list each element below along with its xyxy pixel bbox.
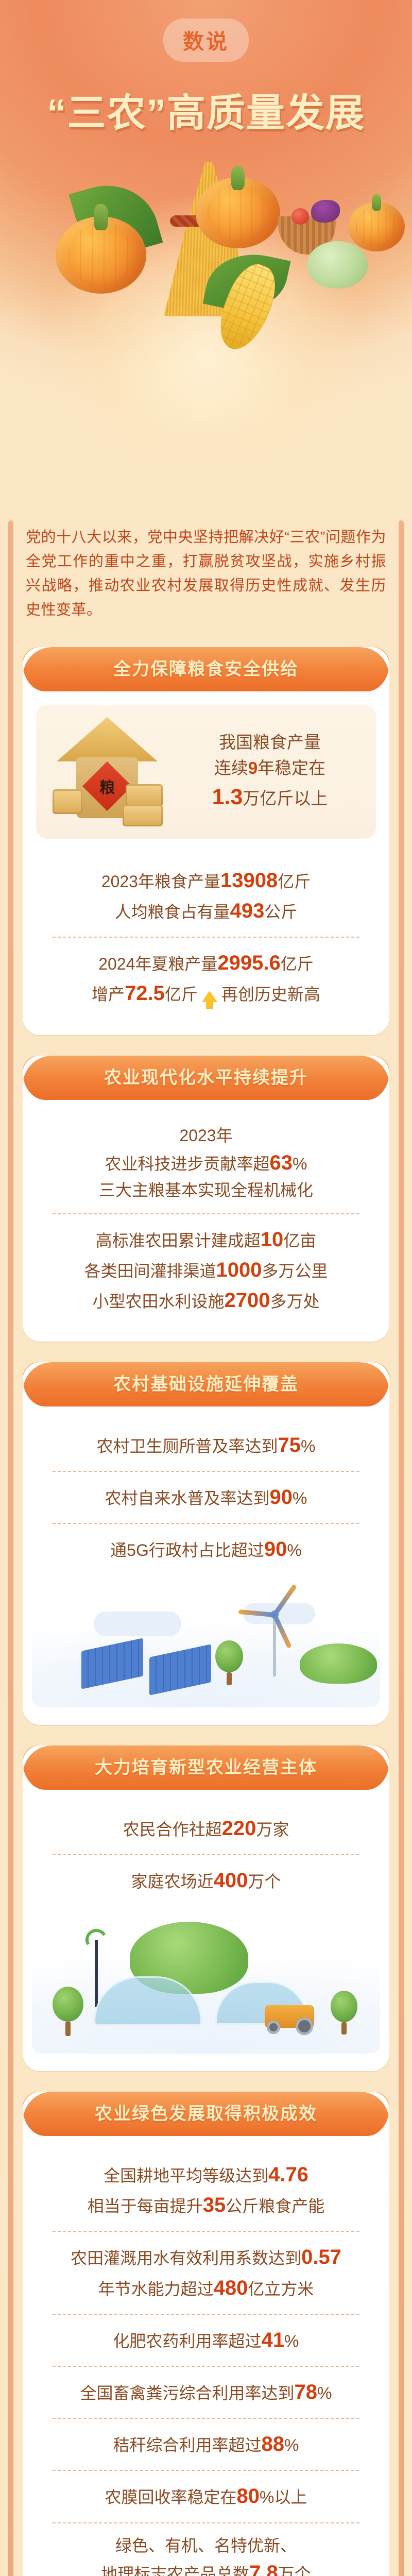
stat-label: 多万处 — [270, 1292, 319, 1311]
feature-line-2-post: 年稳定在 — [257, 758, 325, 777]
stat-label: 绿色、有机、名特优新、 — [115, 2536, 297, 2555]
stat-label: 化肥农药利用率超过 — [113, 2332, 262, 2350]
section-heading: 农业绿色发展取得积极成效 — [23, 2092, 389, 2136]
stat-item: 2024年夏粮产量2995.6亿斤增产72.5亿斤再创历史新高 — [41, 940, 371, 1017]
stat-label: 家庭农场近 — [131, 1872, 214, 1891]
stat-item: 高标准农田累计建成超10亿亩各类田间灌排渠道1000多万公里小型农田水利设施27… — [41, 1216, 371, 1325]
stat-label: % — [293, 1489, 307, 1507]
feature-output-value: 1.3 — [212, 785, 243, 809]
stat-label: 通5G行政村占比超过 — [110, 1541, 264, 1560]
stat-label: 全国畜禽粪污综合利用率达到 — [80, 2384, 295, 2402]
stat-divider — [53, 2522, 359, 2523]
section-heading: 全力保障粮食安全供给 — [23, 647, 389, 691]
section-business-entities: 大力培育新型农业经营主体 农民合作社超220万家家庭农场近400万个 — [23, 1745, 389, 2071]
hay-bale-icon — [126, 784, 163, 807]
stat-label: 秸秆综合利用率超过 — [113, 2436, 262, 2454]
winter-melon-icon — [307, 241, 368, 289]
section-infrastructure: 农村基础设施延伸覆盖 农村卫生厕所普及率达到75%农村自来水普及率达到90%通5… — [23, 1362, 389, 1725]
stat-label: % — [287, 1541, 301, 1560]
stat-label: 全国耕地平均等级达到 — [104, 2166, 268, 2185]
signal-tower-pole-icon — [95, 1940, 98, 2007]
granary-roof-icon — [57, 717, 158, 761]
feature-line-2-pre: 连续 — [214, 758, 248, 777]
stat-label: 亿斤 — [278, 872, 311, 891]
section-modernization: 农业现代化水平持续提升 2023年农业科技进步贡献率超63%三大主粮基本实现全程… — [23, 1056, 389, 1342]
stat-value: 13908 — [220, 869, 278, 892]
stat-value: 2995.6 — [217, 952, 280, 974]
stat-label: 2024年夏粮产量 — [98, 955, 217, 973]
stat-list: 全国耕地平均等级达到4.76相当于每亩提升35公斤粮食产能农田灌溉用水有效利用系… — [23, 2136, 389, 2576]
stat-label: 人均粮食占有量 — [115, 903, 230, 921]
tree-crown — [215, 1640, 243, 1672]
stat-item: 农村自来水普及率达到90% — [41, 1474, 371, 1521]
stat-divider — [53, 2314, 359, 2315]
tree-icon — [331, 1991, 357, 2033]
stat-item: 绿色、有机、名特优新、地理标志农产品总数7.8万个 — [41, 2526, 371, 2576]
feature-line-1: 我国粮食产量 — [173, 730, 367, 755]
section-heading: 农业现代化水平持续提升 — [23, 1056, 389, 1100]
stat-value: 2700 — [225, 1289, 270, 1312]
stat-label: % — [284, 2332, 299, 2350]
stat-label: 农村自来水普及率达到 — [105, 1489, 270, 1507]
hero-fade-decoration — [0, 407, 412, 520]
stat-label: 再创历史新高 — [221, 985, 320, 1004]
stat-value: 493 — [230, 900, 265, 922]
tractor-wheel-icon — [267, 2021, 280, 2034]
stat-divider — [53, 937, 359, 938]
section-food-security: 全力保障粮食安全供给 粮 我国粮食产量 — [23, 647, 389, 1035]
stat-value: 220 — [222, 1817, 256, 1840]
stat-label: 农膜回收率稳定在 — [105, 2488, 237, 2506]
tree-trunk — [341, 2022, 347, 2035]
page-badge: 数说 — [163, 19, 249, 62]
hero-banner: 数说 “三农”高质量发展 — [0, 0, 412, 520]
stat-value: 90 — [264, 1538, 287, 1561]
stat-value: 7.8 — [249, 2562, 278, 2576]
pumpkin-icon — [196, 177, 280, 248]
stat-label: % — [284, 2436, 299, 2454]
stat-label: 农田灌溉用水有效利用系数达到 — [71, 2249, 301, 2267]
feature-line-3: 1.3万亿斤以上 — [173, 781, 367, 814]
stat-value: 88 — [262, 2433, 285, 2455]
section-card: 农村基础设施延伸覆盖 农村卫生厕所普及率达到75%农村自来水普及率达到90%通5… — [23, 1362, 389, 1725]
granary-feature-panel: 粮 我国粮食产量 连续9年稳定在 1.3万亿斤以上 — [36, 705, 376, 839]
stat-list: 2023年粮食产量13908亿斤人均粮食占有量493公斤2024年夏粮产量299… — [23, 842, 389, 1018]
section-card: 农业现代化水平持续提升 2023年农业科技进步贡献率超63%三大主粮基本实现全程… — [23, 1056, 389, 1342]
stat-item: 农民合作社超220万家 — [41, 1805, 371, 1852]
feature-line-3-post: 万亿斤以上 — [243, 789, 328, 808]
stat-label: 万个 — [248, 1872, 281, 1891]
section-card: 农业绿色发展取得积极成效 全国耕地平均等级达到4.76相当于每亩提升35公斤粮食… — [23, 2092, 389, 2576]
stat-list: 2023年农业科技进步贡献率超63%三大主粮基本实现全程机械化高标准农田累计建成… — [23, 1100, 389, 1324]
hay-bale-icon — [123, 805, 163, 826]
stat-label: 亿斤 — [281, 955, 314, 973]
stat-divider — [53, 2418, 359, 2419]
stat-divider — [53, 2366, 359, 2367]
pumpkin-icon — [56, 216, 146, 294]
stat-label: 公斤粮食产能 — [226, 2197, 324, 2215]
stat-label: 2023年粮食产量 — [101, 872, 220, 891]
stat-label: 万个 — [278, 2565, 311, 2576]
stat-divider — [53, 2470, 359, 2471]
hay-bale-icon — [53, 789, 82, 814]
stat-value: 0.57 — [301, 2246, 341, 2268]
infographic-poster: 数说 “三农”高质量发展 党的十八大以来，党中央坚持把解决好“三农”问题作为全党… — [0, 0, 412, 2576]
tree-trunk — [65, 2022, 71, 2036]
stat-label: % — [293, 1155, 307, 1173]
stat-label: % — [317, 2384, 332, 2402]
tree-crown — [331, 1991, 357, 2022]
right-rail-decoration — [399, 520, 404, 2576]
stat-value: 10 — [261, 1228, 284, 1251]
stat-divider — [53, 1523, 359, 1524]
stat-item: 家庭农场近400万个 — [41, 1857, 371, 1904]
stat-label: 地理标志农产品总数 — [101, 2565, 249, 2576]
stat-label: 小型农田水利设施 — [92, 1292, 224, 1311]
village-infrastructure-illustration — [32, 1579, 380, 1707]
stat-item: 2023年粮食产量13908亿斤人均粮食占有量493公斤 — [41, 857, 371, 935]
stat-value: 400 — [214, 1869, 248, 1892]
stat-value: 480 — [214, 2277, 248, 2299]
pumpkin-icon — [348, 202, 405, 251]
section-heading: 大力培育新型农业经营主体 — [23, 1745, 389, 1790]
stat-divider — [53, 1471, 359, 1472]
stat-label: 三大主粮基本实现全程机械化 — [99, 1181, 313, 1199]
stat-label: 增产 — [92, 985, 125, 1004]
stat-label: 万家 — [256, 1820, 289, 1839]
stat-label: 亿立方米 — [248, 2280, 314, 2298]
stat-label: 亿亩 — [283, 1231, 316, 1250]
stat-divider — [53, 2231, 359, 2232]
section-card: 大力培育新型农业经营主体 农民合作社超220万家家庭农场近400万个 — [23, 1745, 389, 2071]
section-green-development: 农业绿色发展取得积极成效 全国耕地平均等级达到4.76相当于每亩提升35公斤粮食… — [23, 2092, 389, 2576]
tree-trunk — [227, 1672, 232, 1685]
stat-label: 多万公里 — [262, 1262, 328, 1280]
stat-item: 全国耕地平均等级达到4.76相当于每亩提升35公斤粮食产能 — [41, 2151, 371, 2229]
stat-value: 41 — [262, 2329, 285, 2351]
stat-label: 各类田间灌排渠道 — [84, 1262, 216, 1280]
tree-icon — [53, 1987, 83, 2034]
eggplant-icon — [311, 200, 340, 223]
stat-item: 化肥农药利用率超过41% — [41, 2317, 371, 2364]
stat-label: % — [301, 1437, 315, 1455]
stat-item: 农膜回收率稳定在80%以上 — [41, 2473, 371, 2520]
stat-label: 农村卫生厕所普及率达到 — [97, 1437, 278, 1455]
stat-value: 78 — [295, 2381, 318, 2403]
cloud-icon — [94, 1612, 181, 1636]
tractor-wheel-icon — [296, 2018, 313, 2035]
stat-label: 农业科技进步贡献率超 — [105, 1155, 270, 1173]
stat-item: 农田灌溉用水有效利用系数达到0.57年节水能力超过480亿立方米 — [41, 2234, 371, 2311]
granary-illustration: 粮 — [45, 713, 169, 831]
stat-value: 72.5 — [125, 982, 165, 1005]
stat-list: 农村卫生厕所普及率达到75%农村自来水普及率达到90%通5G行政村占比超过90% — [23, 1406, 389, 1573]
stat-value: 63 — [270, 1151, 293, 1174]
section-card: 全力保障粮食安全供给 粮 我国粮食产量 — [23, 647, 389, 1035]
tree-icon — [215, 1640, 243, 1684]
feature-years-value: 9 — [248, 758, 257, 777]
stat-label: 年节水能力超过 — [98, 2280, 214, 2298]
stat-divider — [53, 1854, 359, 1855]
hill-icon — [300, 1643, 377, 1684]
arrow-up-icon — [202, 991, 217, 1002]
content-body: 党的十八大以来，党中央坚持把解决好“三农”问题作为全党工作的重中之重，打赢脱贫攻… — [0, 520, 412, 2576]
granary-feature-text: 我国粮食产量 连续9年稳定在 1.3万亿斤以上 — [173, 730, 367, 814]
tomato-icon — [291, 208, 309, 225]
stat-label: 相当于每亩提升 — [88, 2197, 203, 2215]
stat-value: 1000 — [216, 1259, 262, 1281]
stat-divider — [53, 1213, 359, 1214]
stat-value: 35 — [203, 2194, 226, 2216]
stat-value: 80 — [237, 2485, 260, 2507]
stat-label: 公斤 — [264, 903, 297, 921]
stat-list: 农民合作社超220万家家庭农场近400万个 — [23, 1790, 389, 1904]
stat-label: 高标准农田累计建成超 — [96, 1231, 261, 1250]
grain-sign-label: 粮 — [99, 775, 115, 798]
tree-crown — [53, 1987, 83, 2022]
stat-item: 秸秆综合利用率超过88% — [41, 2421, 371, 2468]
stat-value: 4.76 — [268, 2163, 308, 2186]
section-heading: 农村基础设施延伸覆盖 — [23, 1362, 389, 1406]
stat-label: 2023年 — [179, 1126, 232, 1145]
stat-item: 全国畜禽粪污综合利用率达到78% — [41, 2369, 371, 2416]
page-title: “三农”高质量发展 — [0, 81, 412, 138]
stat-value: 75 — [278, 1434, 301, 1456]
stat-value: 90 — [270, 1486, 293, 1509]
greenhouse-farm-illustration — [32, 1909, 380, 2054]
intro-paragraph: 党的十八大以来，党中央坚持把解决好“三农”问题作为全党工作的重中之重，打赢脱贫攻… — [26, 520, 386, 647]
stat-label: 亿斤 — [165, 985, 198, 1004]
stat-item: 农村卫生厕所普及率达到75% — [41, 1422, 371, 1469]
left-rail-decoration — [8, 520, 13, 2576]
stat-item: 通5G行政村占比超过90% — [41, 1526, 371, 1573]
feature-line-2: 连续9年稳定在 — [173, 755, 367, 781]
stat-item: 2023年农业科技进步贡献率超63%三大主粮基本实现全程机械化 — [41, 1115, 371, 1211]
stat-label: %以上 — [260, 2488, 307, 2506]
stat-label: 农民合作社超 — [123, 1820, 222, 1839]
